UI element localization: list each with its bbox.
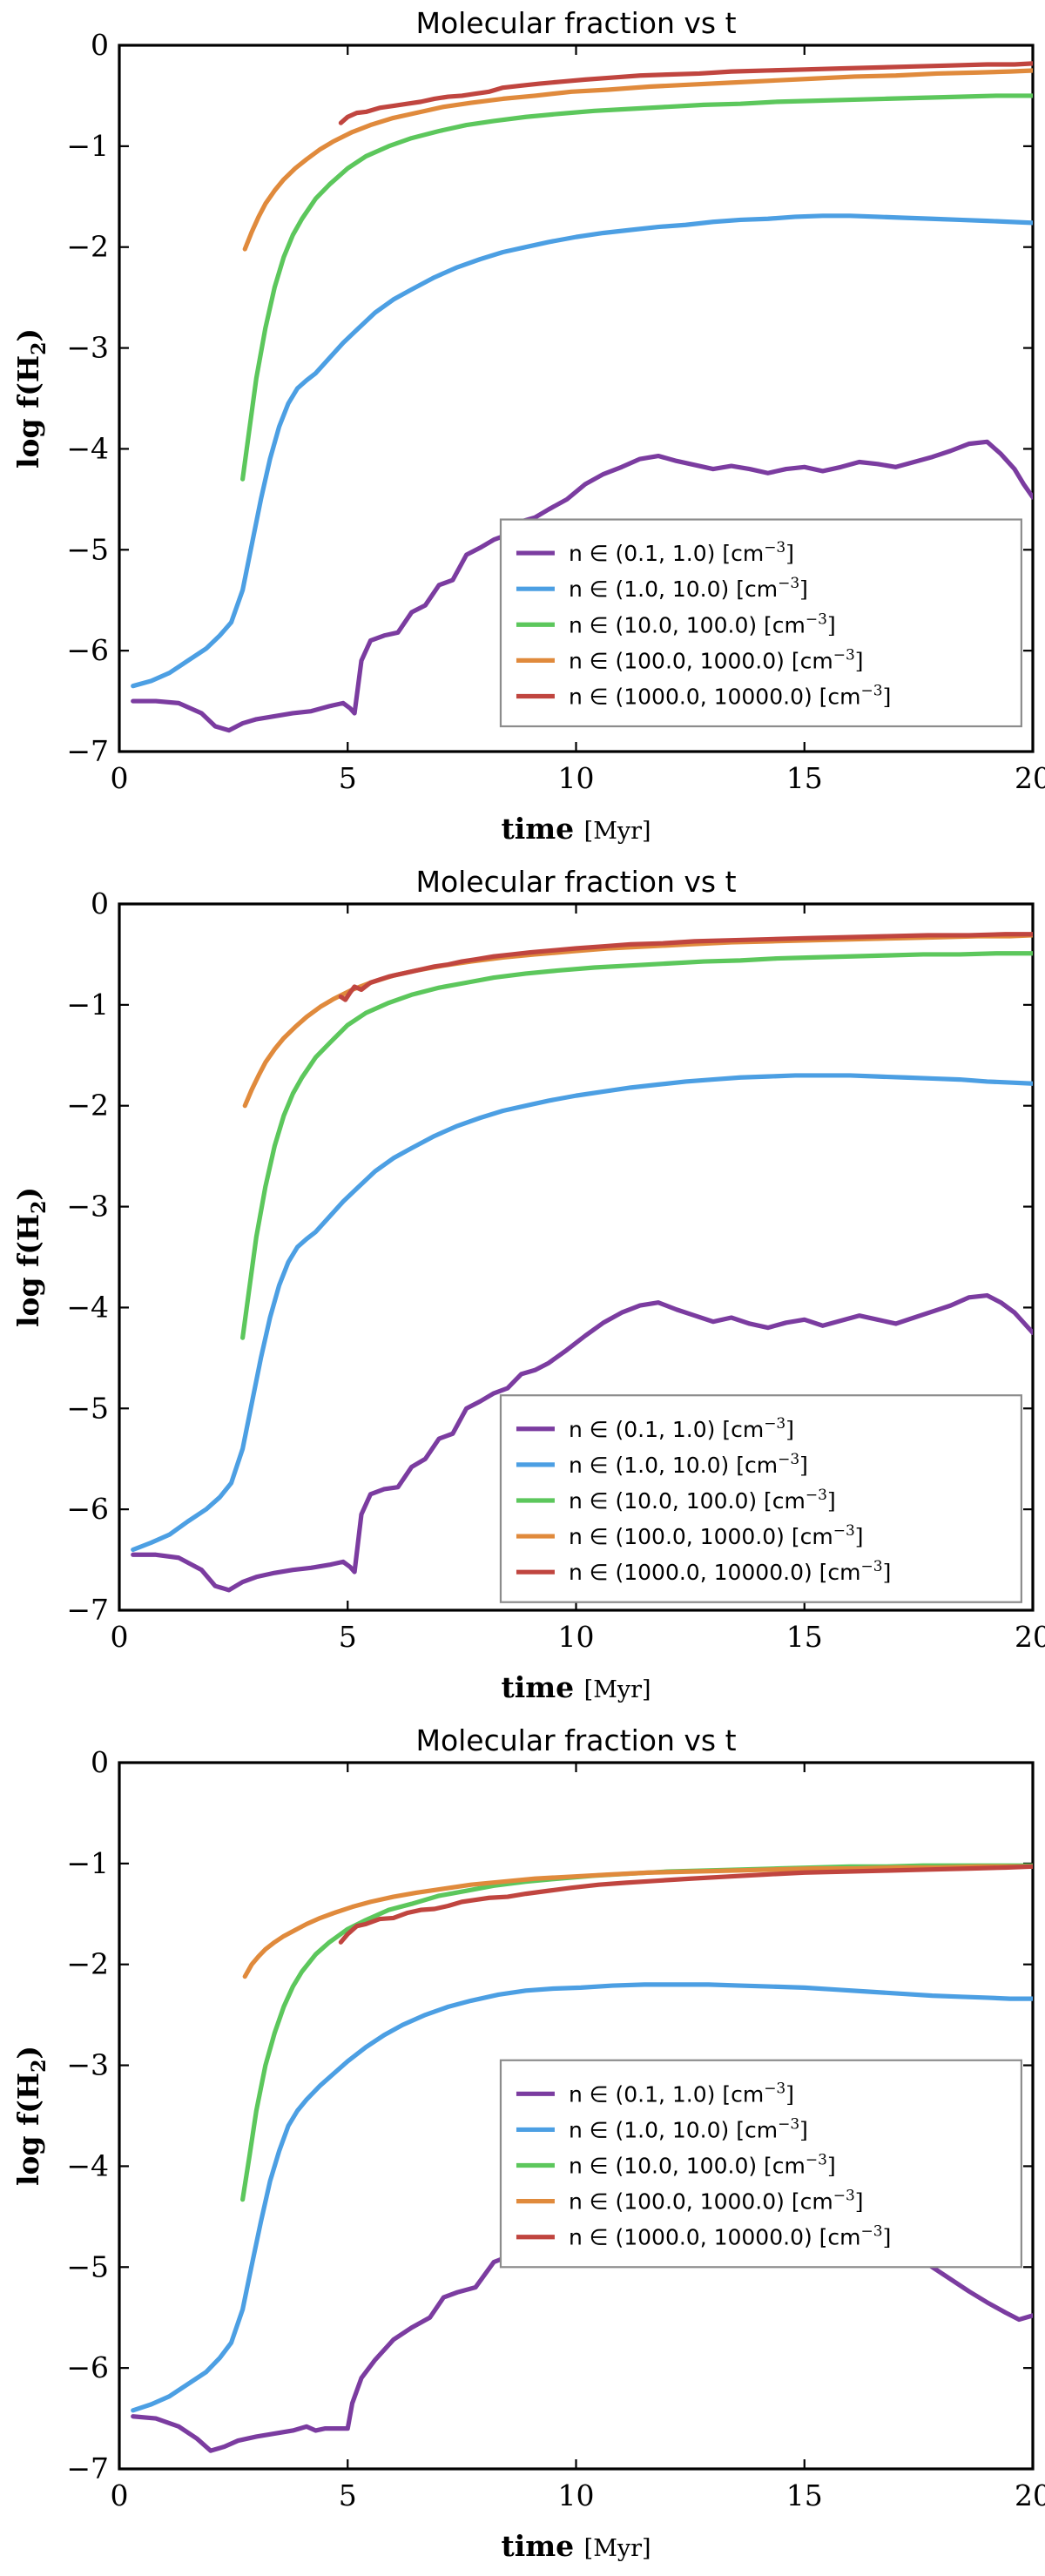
legend-label-main-2: n ∈ (10.0, 100.0) [cm <box>569 612 806 637</box>
legend-label-main-2: n ∈ (10.0, 100.0) [cm <box>569 2154 806 2179</box>
legend-label-exp-4: −3 <box>861 682 883 699</box>
y-ticklabel-2: −2 <box>66 1089 109 1123</box>
x-axis-label-text-1: time [Myr] <box>501 1670 651 1704</box>
y-axis-label-sub: 2 <box>28 2060 51 2073</box>
legend-label-main-3: n ∈ (100.0, 1000.0) [cm <box>569 648 833 673</box>
legend-label-main-1: n ∈ (1.0, 10.0) [cm <box>569 2117 778 2142</box>
legend-label-exp-4: −3 <box>861 2223 883 2241</box>
legend-label-main-2: n ∈ (10.0, 100.0) [cm <box>569 1488 806 1514</box>
legend-label-tail-0: ] <box>785 1417 794 1442</box>
legend-label-4: n ∈ (1000.0, 10000.0) [cm−3] <box>569 682 891 709</box>
x-axis-label-name: time <box>501 812 583 846</box>
x-axis-label-name: time <box>501 2529 583 2563</box>
legend-label-3: n ∈ (100.0, 1000.0) [cm−3] <box>569 1522 864 1549</box>
panel-title-0: Molecular fraction vs t <box>415 6 736 40</box>
legend-label-4: n ∈ (1000.0, 10000.0) [cm−3] <box>569 2223 891 2250</box>
legend-label-main-0: n ∈ (0.1, 1.0) [cm <box>569 541 764 566</box>
y-axis-label-main: log f(H <box>11 2073 45 2186</box>
y-ticklabel-0: 0 <box>91 1745 109 1779</box>
legend-label-2: n ∈ (10.0, 100.0) [cm−3] <box>569 1487 836 1514</box>
y-ticklabel-1: −1 <box>66 1846 109 1880</box>
series-line-3 <box>245 935 1033 1106</box>
legend-label-main-4: n ∈ (1000.0, 10000.0) [cm <box>569 2225 861 2250</box>
legend-label-main-1: n ∈ (1.0, 10.0) [cm <box>569 577 778 602</box>
x-ticklabel-1: 5 <box>339 1620 357 1654</box>
y-ticklabel-1: −1 <box>66 129 109 163</box>
series-line-4 <box>340 1866 1033 1942</box>
y-ticklabel-0: 0 <box>91 28 109 62</box>
legend-label-exp-1: −3 <box>778 2115 799 2133</box>
x-axis-label-text-2: time [Myr] <box>501 2529 651 2563</box>
plot-panel-2: Molecular fraction vs t051015200−1−2−3−4… <box>0 1717 1045 2576</box>
y-axis-label-tail: ) <box>11 1187 45 1201</box>
y-ticklabel-6: −6 <box>66 633 109 667</box>
x-axis-label-unit: [Myr] <box>584 2535 651 2562</box>
legend-item-1000p0-10000p0[interactable]: n ∈ (1000.0, 10000.0) [cm−3] <box>516 682 891 709</box>
legend-label-exp-0: −3 <box>764 2080 785 2097</box>
legend-item-100p0-1000p0[interactable]: n ∈ (100.0, 1000.0) [cm−3] <box>516 2188 864 2215</box>
legend-label-main-3: n ∈ (100.0, 1000.0) [cm <box>569 1524 833 1549</box>
x-ticklabel-2: 10 <box>558 1620 595 1654</box>
legend-label-tail-2: ] <box>827 612 836 637</box>
y-ticklabel-5: −5 <box>66 1391 109 1425</box>
legend-label-exp-0: −3 <box>764 1415 785 1433</box>
x-axis-label-unit: [Myr] <box>584 1676 651 1703</box>
y-ticklabel-1: −1 <box>66 988 109 1022</box>
y-axis-label-text-2: log f(H2) <box>11 2046 51 2186</box>
legend-label-tail-0: ] <box>785 2081 794 2107</box>
y-axis-label-text-0: log f(H2) <box>11 328 51 469</box>
y-ticklabel-5: −5 <box>66 2249 109 2283</box>
legend-label-2: n ∈ (10.0, 100.0) [cm−3] <box>569 2152 836 2179</box>
x-ticklabel-2: 10 <box>558 761 595 795</box>
series-line-2 <box>243 96 1033 479</box>
legend-label-exp-2: −3 <box>806 2152 827 2169</box>
x-ticklabel-4: 20 <box>1015 2478 1045 2512</box>
series-line-2 <box>243 954 1033 1338</box>
x-axis-label-name: time <box>501 1670 583 1704</box>
y-ticklabel-4: −4 <box>66 1290 109 1324</box>
legend-label-1: n ∈ (1.0, 10.0) [cm−3] <box>569 1451 808 1478</box>
y-ticklabel-7: −7 <box>66 734 109 768</box>
legend-label-exp-1: −3 <box>778 575 799 592</box>
x-ticklabel-4: 20 <box>1015 1620 1045 1654</box>
legend-label-tail-3: ] <box>855 648 864 673</box>
legend-item-100p0-1000p0[interactable]: n ∈ (100.0, 1000.0) [cm−3] <box>516 646 864 673</box>
legend-label-2: n ∈ (10.0, 100.0) [cm−3] <box>569 610 836 637</box>
legend-label-main-4: n ∈ (1000.0, 10000.0) [cm <box>569 684 861 709</box>
panel-title-1: Molecular fraction vs t <box>415 865 736 899</box>
legend-label-0: n ∈ (0.1, 1.0) [cm−3] <box>569 2080 794 2107</box>
x-axis-label-text-0: time [Myr] <box>501 812 651 846</box>
legend-label-tail-1: ] <box>799 2117 808 2142</box>
y-axis-label-sub: 2 <box>28 342 51 355</box>
x-ticklabel-1: 5 <box>339 761 357 795</box>
legend-label-tail-2: ] <box>827 1488 836 1514</box>
x-axis-label-unit: [Myr] <box>584 818 651 845</box>
legend-label-3: n ∈ (100.0, 1000.0) [cm−3] <box>569 646 864 673</box>
y-ticklabel-7: −7 <box>66 2451 109 2485</box>
legend-label-tail-4: ] <box>883 1560 892 1585</box>
legend-label-exp-0: −3 <box>764 539 785 556</box>
y-ticklabel-3: −3 <box>66 2048 109 2082</box>
chart-panel-0: Molecular fraction vs t051015200−1−2−3−4… <box>0 0 1045 859</box>
legend-label-tail-3: ] <box>855 1524 864 1549</box>
x-ticklabel-0: 0 <box>111 761 129 795</box>
legend-label-4: n ∈ (1000.0, 10000.0) [cm−3] <box>569 1558 891 1585</box>
x-axis-label-0: time [Myr] <box>501 812 651 846</box>
legend-label-0: n ∈ (0.1, 1.0) [cm−3] <box>569 1415 794 1442</box>
legend-item-1000p0-10000p0[interactable]: n ∈ (1000.0, 10000.0) [cm−3] <box>516 1558 891 1585</box>
legend-label-main-1: n ∈ (1.0, 10.0) [cm <box>569 1453 778 1478</box>
legend-label-tail-1: ] <box>799 1453 808 1478</box>
legend-label-exp-1: −3 <box>778 1451 799 1468</box>
y-axis-label-main: log f(H <box>11 1214 45 1327</box>
x-ticklabel-0: 0 <box>111 1620 129 1654</box>
chart-panel-2: Molecular fraction vs t051015200−1−2−3−4… <box>0 1717 1045 2576</box>
legend-label-exp-3: −3 <box>833 2188 855 2205</box>
y-axis-label-main: log f(H <box>11 355 45 469</box>
legend-label-tail-4: ] <box>883 2225 892 2250</box>
legend-label-0: n ∈ (0.1, 1.0) [cm−3] <box>569 539 794 566</box>
legend-label-tail-0: ] <box>785 541 794 566</box>
y-ticklabel-4: −4 <box>66 2148 109 2182</box>
y-ticklabel-2: −2 <box>66 1947 109 1981</box>
plot-panel-0: Molecular fraction vs t051015200−1−2−3−4… <box>0 0 1045 859</box>
legend-item-1000p0-10000p0[interactable]: n ∈ (1000.0, 10000.0) [cm−3] <box>516 2223 891 2250</box>
legend-label-exp-3: −3 <box>833 1522 855 1540</box>
y-ticklabel-0: 0 <box>91 887 109 920</box>
x-ticklabel-3: 15 <box>786 2478 823 2512</box>
legend-label-1: n ∈ (1.0, 10.0) [cm−3] <box>569 2115 808 2142</box>
legend-label-tail-3: ] <box>855 2189 864 2215</box>
legend-label-main-0: n ∈ (0.1, 1.0) [cm <box>569 1417 764 1442</box>
x-ticklabel-1: 5 <box>339 2478 357 2512</box>
y-ticklabel-6: −6 <box>66 1492 109 1526</box>
figure-container: Molecular fraction vs t051015200−1−2−3−4… <box>0 0 1045 2576</box>
legend-label-main-0: n ∈ (0.1, 1.0) [cm <box>569 2081 764 2107</box>
legend-label-tail-4: ] <box>883 684 892 709</box>
y-ticklabel-5: −5 <box>66 532 109 566</box>
y-ticklabel-4: −4 <box>66 431 109 465</box>
legend-label-3: n ∈ (100.0, 1000.0) [cm−3] <box>569 2188 864 2215</box>
legend-label-tail-2: ] <box>827 2154 836 2179</box>
legend-label-main-3: n ∈ (100.0, 1000.0) [cm <box>569 2189 833 2215</box>
legend-label-main-4: n ∈ (1000.0, 10000.0) [cm <box>569 1560 861 1585</box>
legend-label-exp-2: −3 <box>806 1487 827 1504</box>
y-ticklabel-6: −6 <box>66 2350 109 2384</box>
legend-2[interactable]: n ∈ (0.1, 1.0) [cm−3]n ∈ (1.0, 10.0) [cm… <box>501 2060 1021 2268</box>
chart-panel-1: Molecular fraction vs t051015200−1−2−3−4… <box>0 859 1045 1717</box>
legend-label-exp-4: −3 <box>861 1558 883 1575</box>
x-ticklabel-2: 10 <box>558 2478 595 2512</box>
x-axis-label-2: time [Myr] <box>501 2529 651 2563</box>
plot-panel-1: Molecular fraction vs t051015200−1−2−3−4… <box>0 859 1045 1717</box>
legend-item-100p0-1000p0[interactable]: n ∈ (100.0, 1000.0) [cm−3] <box>516 1522 864 1549</box>
legend-label-tail-1: ] <box>799 577 808 602</box>
y-axis-label-sub: 2 <box>28 1201 51 1214</box>
y-ticklabel-3: −3 <box>66 1190 109 1224</box>
legend-label-exp-2: −3 <box>806 610 827 628</box>
panel-title-2: Molecular fraction vs t <box>415 1723 736 1757</box>
y-ticklabel-2: −2 <box>66 230 109 264</box>
x-axis-label-1: time [Myr] <box>501 1670 651 1704</box>
x-ticklabel-0: 0 <box>111 2478 129 2512</box>
legend-1[interactable]: n ∈ (0.1, 1.0) [cm−3]n ∈ (1.0, 10.0) [cm… <box>501 1395 1021 1602</box>
legend-label-1: n ∈ (1.0, 10.0) [cm−3] <box>569 575 808 602</box>
x-ticklabel-4: 20 <box>1015 761 1045 795</box>
x-ticklabel-3: 15 <box>786 761 823 795</box>
x-ticklabel-3: 15 <box>786 1620 823 1654</box>
y-axis-label-tail: ) <box>11 2046 45 2060</box>
y-axis-label-text-1: log f(H2) <box>11 1187 51 1327</box>
y-ticklabel-3: −3 <box>66 331 109 365</box>
y-ticklabel-7: −7 <box>66 1593 109 1627</box>
legend-0[interactable]: n ∈ (0.1, 1.0) [cm−3]n ∈ (1.0, 10.0) [cm… <box>501 520 1021 727</box>
y-axis-label-tail: ) <box>11 328 45 342</box>
legend-label-exp-3: −3 <box>833 646 855 664</box>
